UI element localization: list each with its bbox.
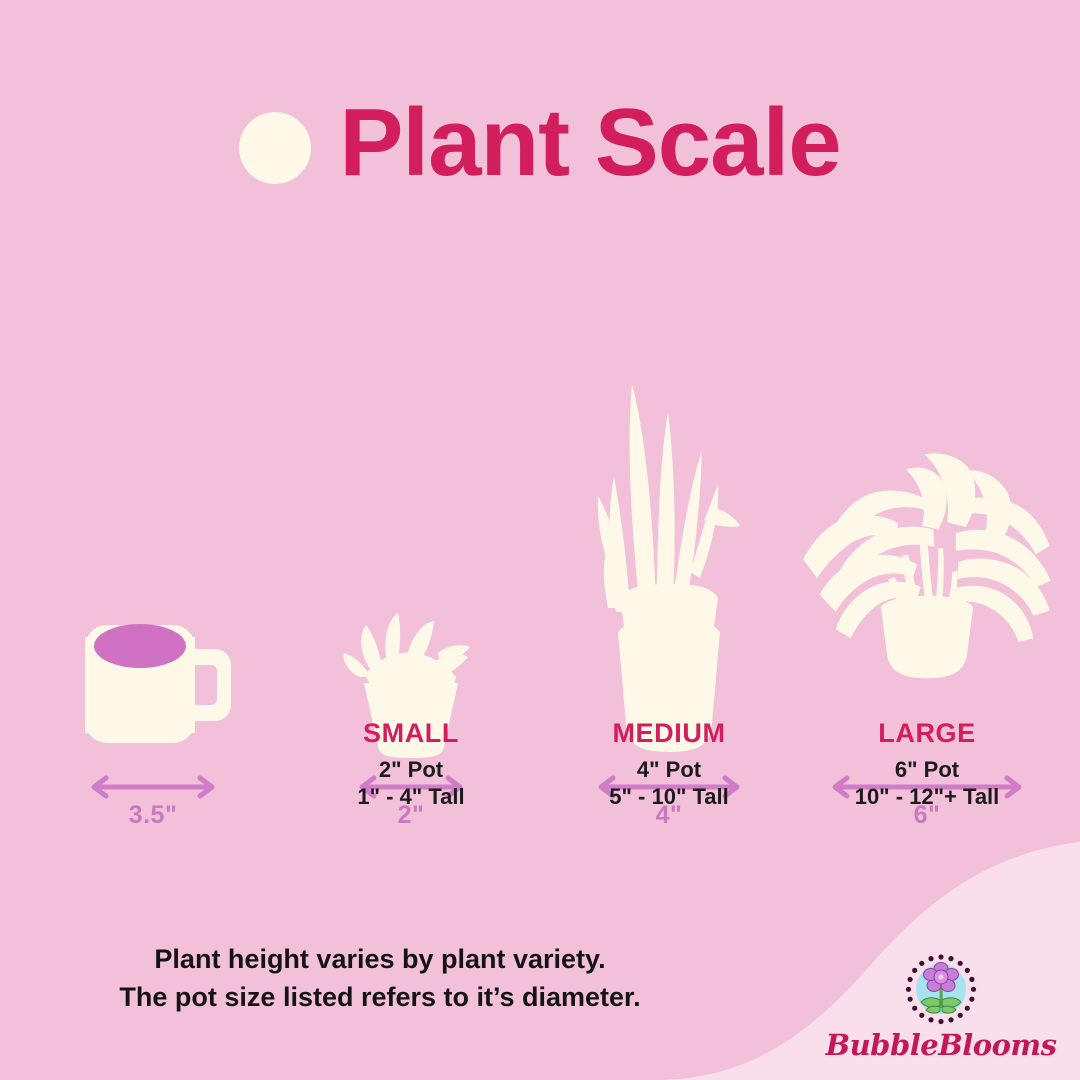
small-plant-art xyxy=(286,371,536,761)
size-captions: SMALL 2" Pot 1" - 4" Tall MEDIUM 4" Pot … xyxy=(0,718,1080,811)
mug-art xyxy=(28,371,278,761)
brand-name: BubbleBlooms xyxy=(826,1028,1057,1062)
fern-plant-icon xyxy=(802,376,1052,761)
footnote-line-1: Plant height varies by plant variety. xyxy=(60,940,700,978)
caption-medium: MEDIUM 4" Pot 5" - 10" Tall xyxy=(544,718,794,811)
caption-height-small: 1" - 4" Tall xyxy=(286,784,536,811)
footnote: Plant height varies by plant variety. Th… xyxy=(60,940,700,1017)
caption-large: LARGE 6" Pot 10" - 12"+ Tall xyxy=(802,718,1052,811)
caption-title-small: SMALL xyxy=(286,718,536,749)
caption-small: SMALL 2" Pot 1" - 4" Tall xyxy=(286,718,536,811)
caption-height-medium: 5" - 10" Tall xyxy=(544,784,794,811)
plant-scale-infographic: Plant Scale xyxy=(0,0,1080,1080)
page-title-row: Plant Scale xyxy=(0,95,1080,191)
caption-title-medium: MEDIUM xyxy=(544,718,794,749)
caption-height-large: 10" - 12"+ Tall xyxy=(802,784,1052,811)
brand-block: BubbleBlooms xyxy=(826,952,1056,1062)
caption-pot-medium: 4" Pot xyxy=(544,757,794,784)
flower-emblem-logo-icon xyxy=(904,952,978,1026)
caption-pot-small: 2" Pot xyxy=(286,757,536,784)
medium-plant-art xyxy=(544,371,794,761)
large-plant-art xyxy=(802,371,1052,761)
footnote-line-2: The pot size listed refers to it’s diame… xyxy=(60,978,700,1016)
caption-pot-large: 6" Pot xyxy=(802,757,1052,784)
cream-circle-bullet-icon xyxy=(239,112,311,184)
caption-title-large: LARGE xyxy=(802,718,1052,749)
page-title: Plant Scale xyxy=(339,95,840,191)
snake-plant-icon xyxy=(584,376,754,761)
